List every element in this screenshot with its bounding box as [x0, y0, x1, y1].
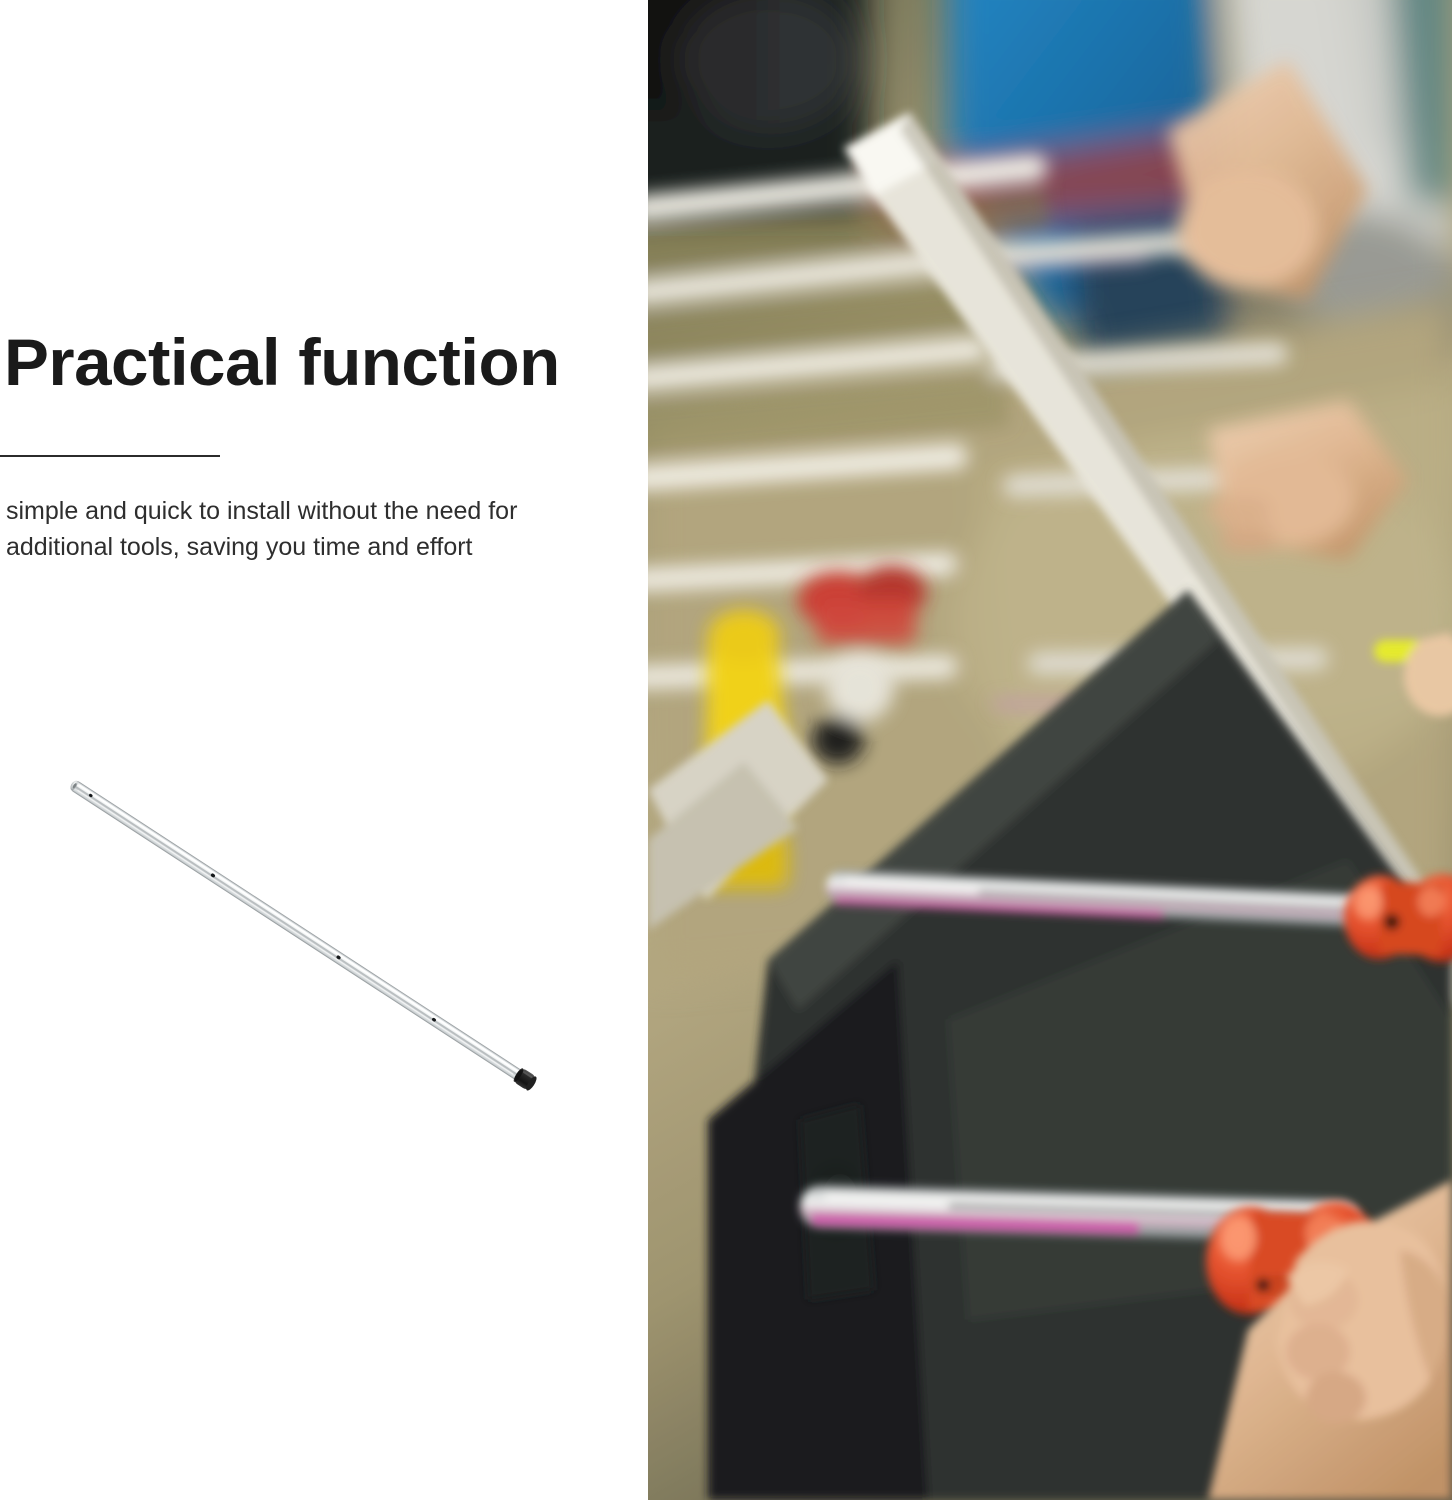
page-title: Practical function — [4, 328, 560, 397]
product-banner: Practical function simple and quick to i… — [0, 0, 1452, 1500]
left-content-panel: Practical function simple and quick to i… — [0, 0, 648, 1500]
description-text: simple and quick to install without the … — [6, 494, 546, 565]
foosball-scene-photo — [648, 0, 1452, 1500]
title-divider — [0, 455, 220, 457]
product-rod-image — [0, 720, 620, 1140]
